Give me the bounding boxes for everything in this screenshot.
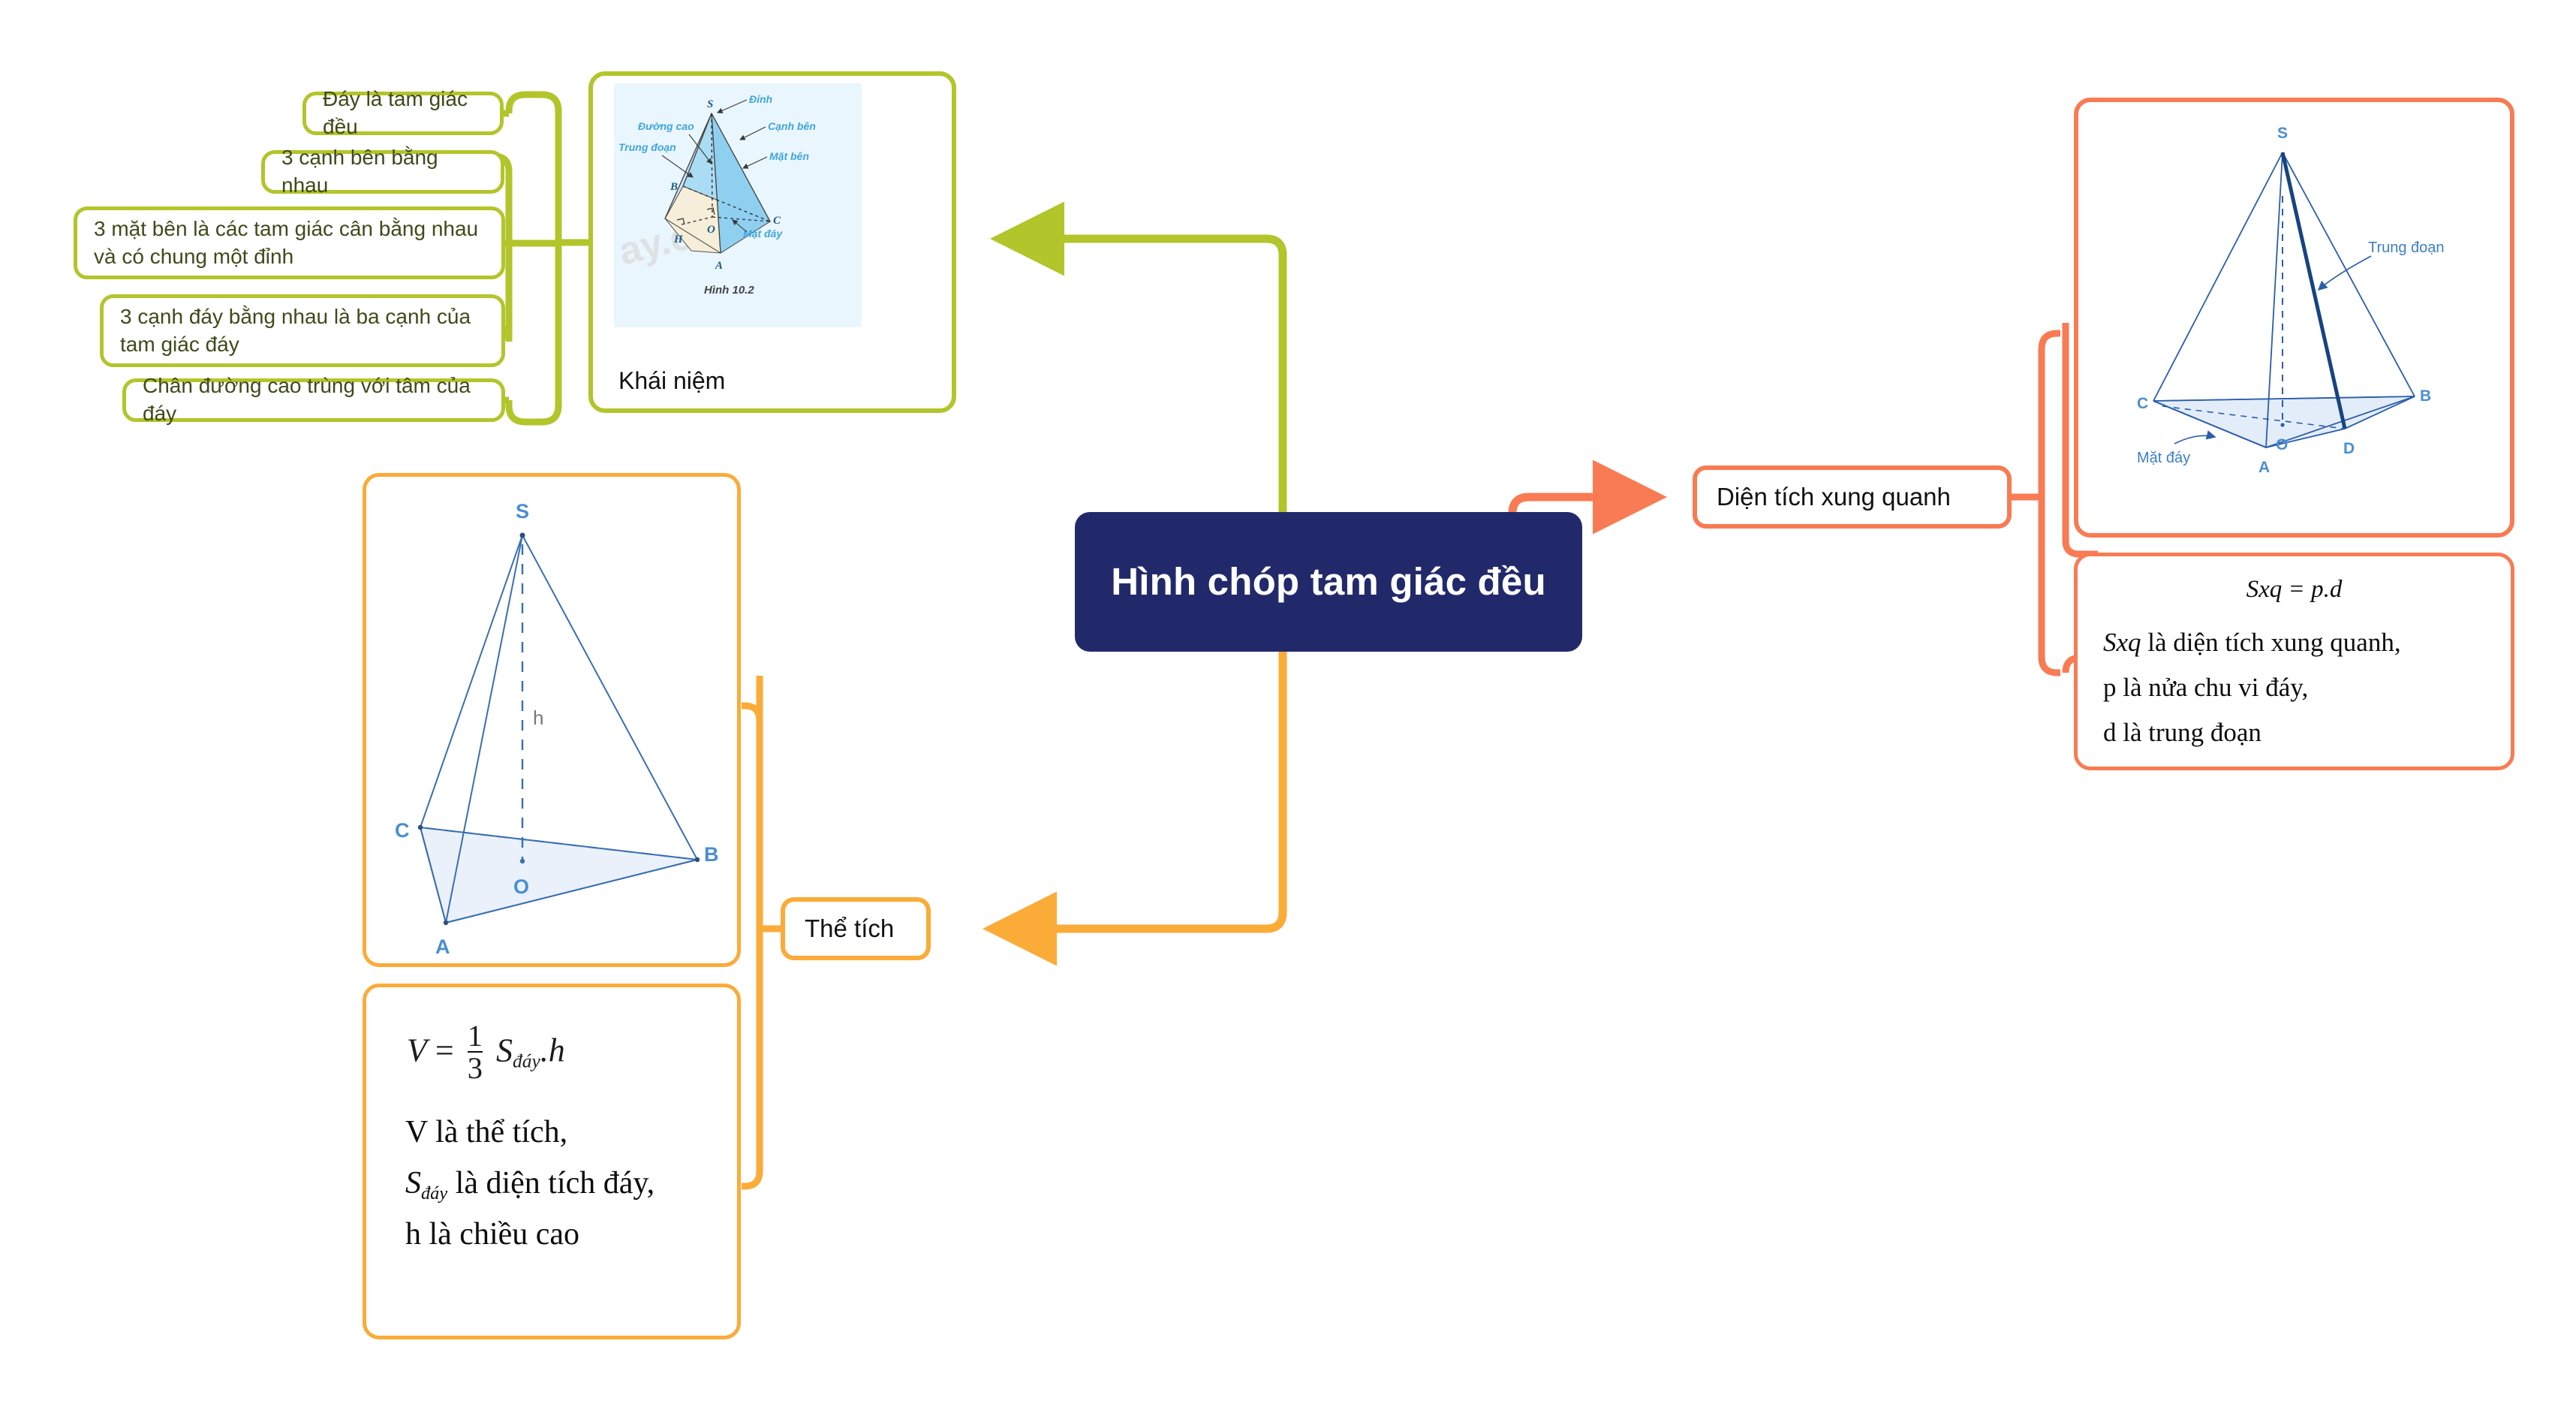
leaf-khainiem-5[interactable]: Chân đường cao trùng với tâm của đáy [122,378,505,422]
formula-sxq-line-1: Sxq là diện tích xung quanh, [2103,620,2485,665]
symbol-p: p [2103,673,2117,702]
eq-fraction: 1 3 [468,1020,483,1084]
leaf-khainiem-2[interactable]: 3 cạnh bên bằng nhau [261,150,504,194]
vertex-label-B: B [2420,387,2431,405]
formula-volume-line-2: Sđáy là diện tích đáy, [405,1158,712,1209]
connector-root-to-dtxq [1512,497,1659,514]
vertex-label-H: H [673,233,684,246]
annotation-height-h: h [533,706,543,729]
vertex-label-S: S [516,500,529,523]
symbol-h: h [405,1217,421,1252]
eq-s: S [496,1032,513,1068]
eq-tail: .h [540,1032,565,1068]
card-khai-niem[interactable]: ay.com S [588,71,956,413]
annotation-duong-cao: Đường cao [638,120,694,132]
vertex-label-A: A [715,260,723,272]
branch-dien-tich-xung-quanh[interactable]: Diện tích xung quanh [1693,465,2012,529]
connector-root-to-khainiem [998,239,1283,512]
formula-volume-line-3: h là chiều cao [405,1209,712,1260]
symbol-d: d [2103,718,2117,747]
desc-sxq: là diện tích xung quanh, [2141,628,2401,657]
vertex-label-B: B [670,181,678,193]
vertex-label-S: S [707,98,713,110]
annotation-dinh: Đỉnh [749,93,772,105]
card-formula-volume[interactable]: V = 1 3 Sđáy.h V là thể tích, Sđáy là di… [363,984,741,1339]
desc-s: là diện tích đáy, [447,1166,655,1201]
leaf-khainiem-3[interactable]: 3 mặt bên là các tam giác cân bằng nhau … [74,206,505,279]
pyramid-diagram-sxq: S C B O D A Trung đoạn Mặt đáy [2078,102,2510,533]
vertex-label-O: O [2276,436,2288,453]
symbol-sxq: Sxq [2103,628,2141,657]
leaf-label: Chân đường cao trùng với tâm của đáy [143,372,485,428]
vertex-label-A: A [2259,459,2270,476]
branch-the-tich[interactable]: Thể tích [781,897,931,960]
leaf-label: 3 cạnh đáy bằng nhau là ba cạnh của tam … [120,303,485,359]
eq-s-subscript: đáy [513,1050,540,1072]
vertex-label-O: O [707,224,715,236]
formula-volume-line-1: V là thể tích, [405,1107,712,1158]
card-khainiem-title: Khái niệm [618,367,725,395]
annotation-mat-day: Mặt đáy [2137,450,2190,466]
annotation-trung-doan: Trung đoạn [618,141,676,153]
annotation-mat-day: Mặt đáy [743,227,783,240]
symbol-s-subscript: đáy [421,1182,447,1203]
leaf-khainiem-4[interactable]: 3 cạnh đáy bằng nhau là ba cạnh của tam … [100,294,505,367]
vertex-label-A: A [435,935,450,958]
vertex-label-S: S [2277,125,2288,142]
desc-v: là thể tích, [428,1115,568,1149]
formula-volume-body: V = 1 3 Sđáy.h V là thể tích, Sđáy là di… [366,987,737,1336]
annotation-mat-ben: Mặt bên [769,150,809,162]
desc-h: là chiều cao [421,1217,579,1252]
eq-numerator: 1 [468,1020,483,1051]
formula-sxq-body: Sxq = p.d Sxq là diện tích xung quanh, p… [2078,556,2511,767]
leaf-label: 3 cạnh bên bằng nhau [281,144,484,200]
formula-volume-equation: V = 1 3 Sđáy.h [407,1020,712,1084]
card-pyramid-volume[interactable]: S C B O A h [363,473,741,967]
eq-equals: = [435,1032,454,1068]
vertex-label-O: O [513,875,529,898]
card-pyramid-sxq[interactable]: S C B O D A Trung đoạn Mặt đáy [2074,98,2514,538]
vertex-label-B: B [704,843,719,866]
eq-denominator: 3 [468,1053,483,1083]
annotation-trung-doan: Trung đoạn [2368,240,2445,256]
formula-sxq-line-2: p là nửa chu vi đáy, [2103,665,2485,710]
leaf-khainiem-1[interactable]: Đáy là tam giác đều [302,92,504,135]
leaf-label: Đáy là tam giác đều [323,86,483,141]
desc-d: là trung đoạn [2117,718,2262,747]
symbol-s: S [405,1166,421,1201]
pyramid-diagram-khainiem: ay.com S [593,76,952,408]
eq-v: V [407,1032,427,1068]
branch-label: Diện tích xung quanh [1717,483,1951,511]
root-node-label: Hình chóp tam giác đều [1090,560,1567,604]
leaf-label: 3 mặt bên là các tam giác cân bằng nhau … [94,215,485,271]
desc-p: là nửa chu vi đáy, [2117,673,2309,702]
pyramid-diagram-volume: S C B O A h [366,477,737,963]
card-formula-sxq[interactable]: Sxq = p.d Sxq là diện tích xung quanh, p… [2074,553,2514,770]
vertex-label-C: C [773,215,781,227]
symbol-v: V [405,1115,428,1149]
vertex-label-D: D [2343,440,2355,457]
root-node[interactable]: Hình chóp tam giác đều [1075,512,1582,652]
formula-sxq-equation: Sxq = p.d [2103,576,2485,604]
mindmap-canvas: Hình chóp tam giác đều Đáy là tam giác đ… [0,0,2576,1425]
figure-caption: Hình 10.2 [704,284,754,297]
formula-sxq-line-3: d là trung đoạn [2103,710,2485,755]
vertex-label-C: C [2137,395,2148,412]
connector-root-to-thetich [991,652,1283,929]
annotation-canh-ben: Cạnh bên [768,120,816,132]
vertex-label-C: C [395,819,410,842]
branch-label: Thể tích [805,914,894,943]
